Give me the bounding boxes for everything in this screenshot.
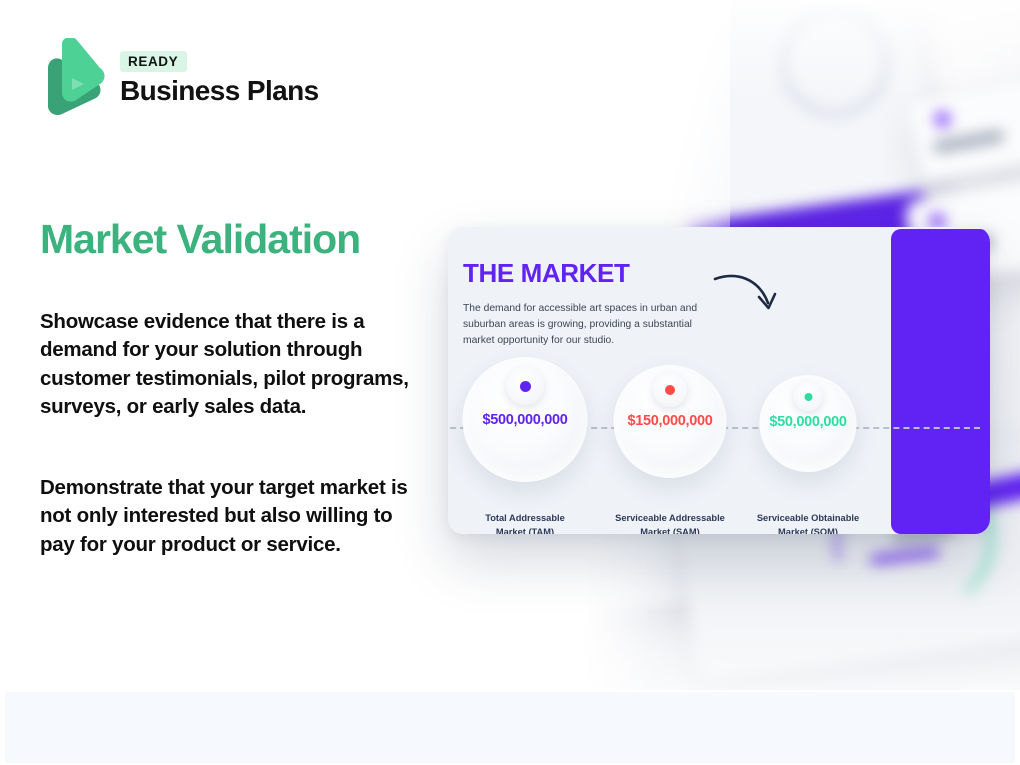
som-value: $50,000,000 (733, 414, 883, 430)
red-dot-icon (665, 385, 675, 395)
som-knob (794, 382, 823, 411)
page-title: Market Validation (40, 216, 360, 263)
brand-title: Business Plans (120, 76, 319, 105)
play-triangle-logo-icon (40, 38, 106, 116)
slide-canvas: READY Business Plans Market Validation S… (0, 0, 1020, 765)
green-dot-icon (804, 393, 812, 401)
tam-caption: Total Addressable Market (TAM) (450, 512, 600, 534)
brand-logo-block: READY Business Plans (40, 38, 319, 116)
bottom-strip (5, 692, 1015, 763)
card-subtitle: The demand for accessible art spaces in … (463, 301, 721, 349)
sam-caption-line2: Market (SAM) (640, 527, 699, 534)
sam-value: $150,000,000 (595, 413, 745, 429)
som-caption-line1: Serviceable Obtainable (757, 513, 859, 523)
body-paragraph-1: Showcase evidence that there is a demand… (40, 308, 420, 421)
tam-value: $500,000,000 (450, 412, 600, 428)
ready-badge: READY (120, 51, 187, 72)
brand-text: READY Business Plans (120, 49, 319, 105)
tam-caption-line1: Total Addressable (485, 513, 565, 523)
sam-caption-line1: Serviceable Addressable (615, 513, 725, 523)
sam-caption: Serviceable Addressable Market (SAM) (595, 512, 745, 534)
card-accent-block (891, 229, 990, 534)
sam-knob (653, 373, 687, 407)
som-caption: Serviceable Obtainable Market (SOM) (733, 512, 883, 534)
mock-card-right-top (909, 78, 1020, 181)
tam-caption-line2: Market (TAM) (496, 527, 554, 534)
tam-knob (506, 367, 544, 405)
body-paragraph-2: Demonstrate that your target market is n… (40, 474, 420, 559)
purple-dot-icon (520, 381, 531, 392)
curved-arrow-down-icon (713, 273, 781, 323)
market-circles-group: $500,000,000 Total Addressable Market (T… (448, 357, 891, 532)
mock-ring (773, 0, 897, 124)
card-heading: THE MARKET (463, 258, 629, 289)
som-caption-line2: Market (SOM) (778, 527, 838, 534)
market-slide-card[interactable]: THE MARKET The demand for accessible art… (448, 227, 990, 534)
